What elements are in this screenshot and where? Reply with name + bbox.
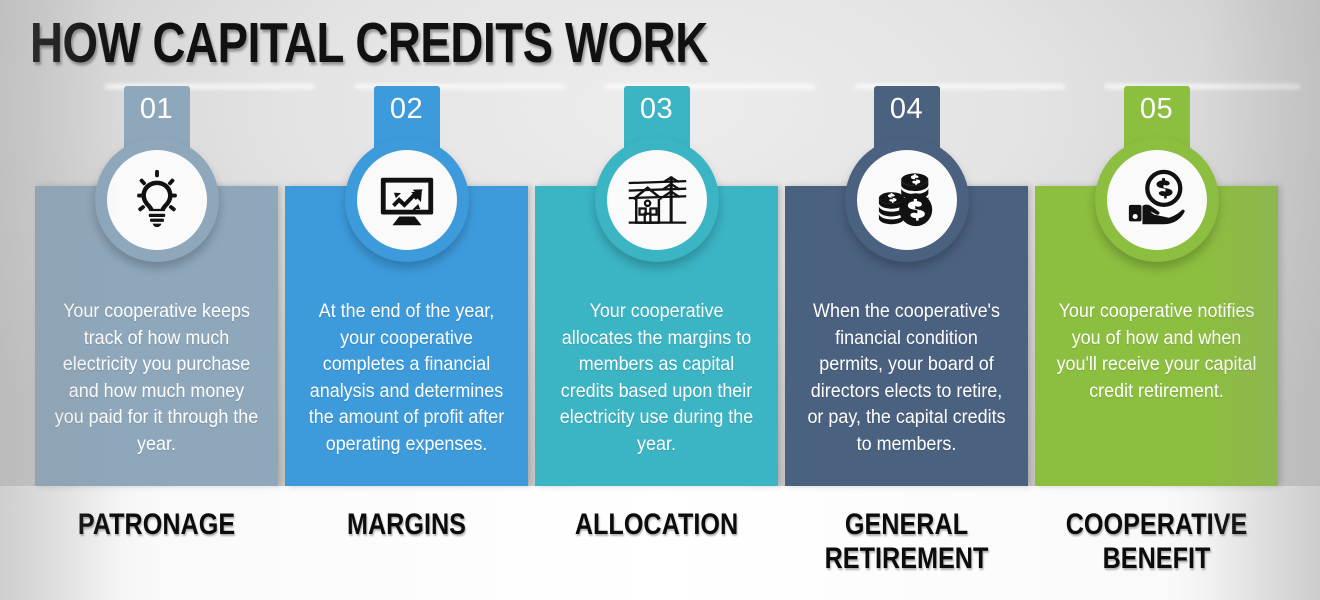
step-number-1: 01: [124, 86, 190, 132]
infographic-canvas: HOW CAPITAL CREDITS WORK 01: [0, 0, 1320, 600]
hand-coin-icon: [1107, 150, 1207, 250]
step-number-5: 05: [1124, 86, 1190, 132]
step-description-1: Your cooperative keeps track of how much…: [52, 298, 261, 457]
monitor-chart-icon: [357, 150, 457, 250]
step-disc-1: [95, 138, 219, 262]
page-title: HOW CAPITAL CREDITS WORK: [30, 14, 708, 72]
step-label-5: COOPERATIVE BENEFIT: [1054, 508, 1258, 576]
step-label-4: GENERAL RETIREMENT: [804, 508, 1008, 576]
step-description-2: At the end of the year, your cooperative…: [302, 298, 511, 457]
step-card-3[interactable]: 03: [535, 186, 778, 486]
step-disc-4: [845, 138, 969, 262]
step-label-3: ALLOCATION: [554, 508, 758, 542]
step-number-3: 03: [624, 86, 690, 132]
lightbulb-icon: [107, 150, 207, 250]
step-description-4: When the cooperative's financial conditi…: [802, 298, 1011, 457]
coin-stacks-icon: [857, 150, 957, 250]
step-card-4[interactable]: 04: [785, 186, 1028, 486]
step-label-1: PATRONAGE: [54, 508, 258, 542]
step-description-3: Your cooperative allocates the margins t…: [552, 298, 761, 457]
step-number-2: 02: [374, 86, 440, 132]
step-card-2[interactable]: 02 At the end of the year, your cooperat…: [285, 186, 528, 486]
step-disc-5: [1095, 138, 1219, 262]
step-card-5[interactable]: 05 Your cooperative notifies you of how …: [1035, 186, 1278, 486]
step-disc-3: [595, 138, 719, 262]
house-powerline-icon: [607, 150, 707, 250]
step-card-1[interactable]: 01 Your cooperative keeps track o: [35, 186, 278, 486]
step-description-5: Your cooperative notifies you of how and…: [1052, 298, 1261, 404]
step-number-4: 04: [874, 86, 940, 132]
step-disc-2: [345, 138, 469, 262]
step-label-2: MARGINS: [304, 508, 508, 542]
